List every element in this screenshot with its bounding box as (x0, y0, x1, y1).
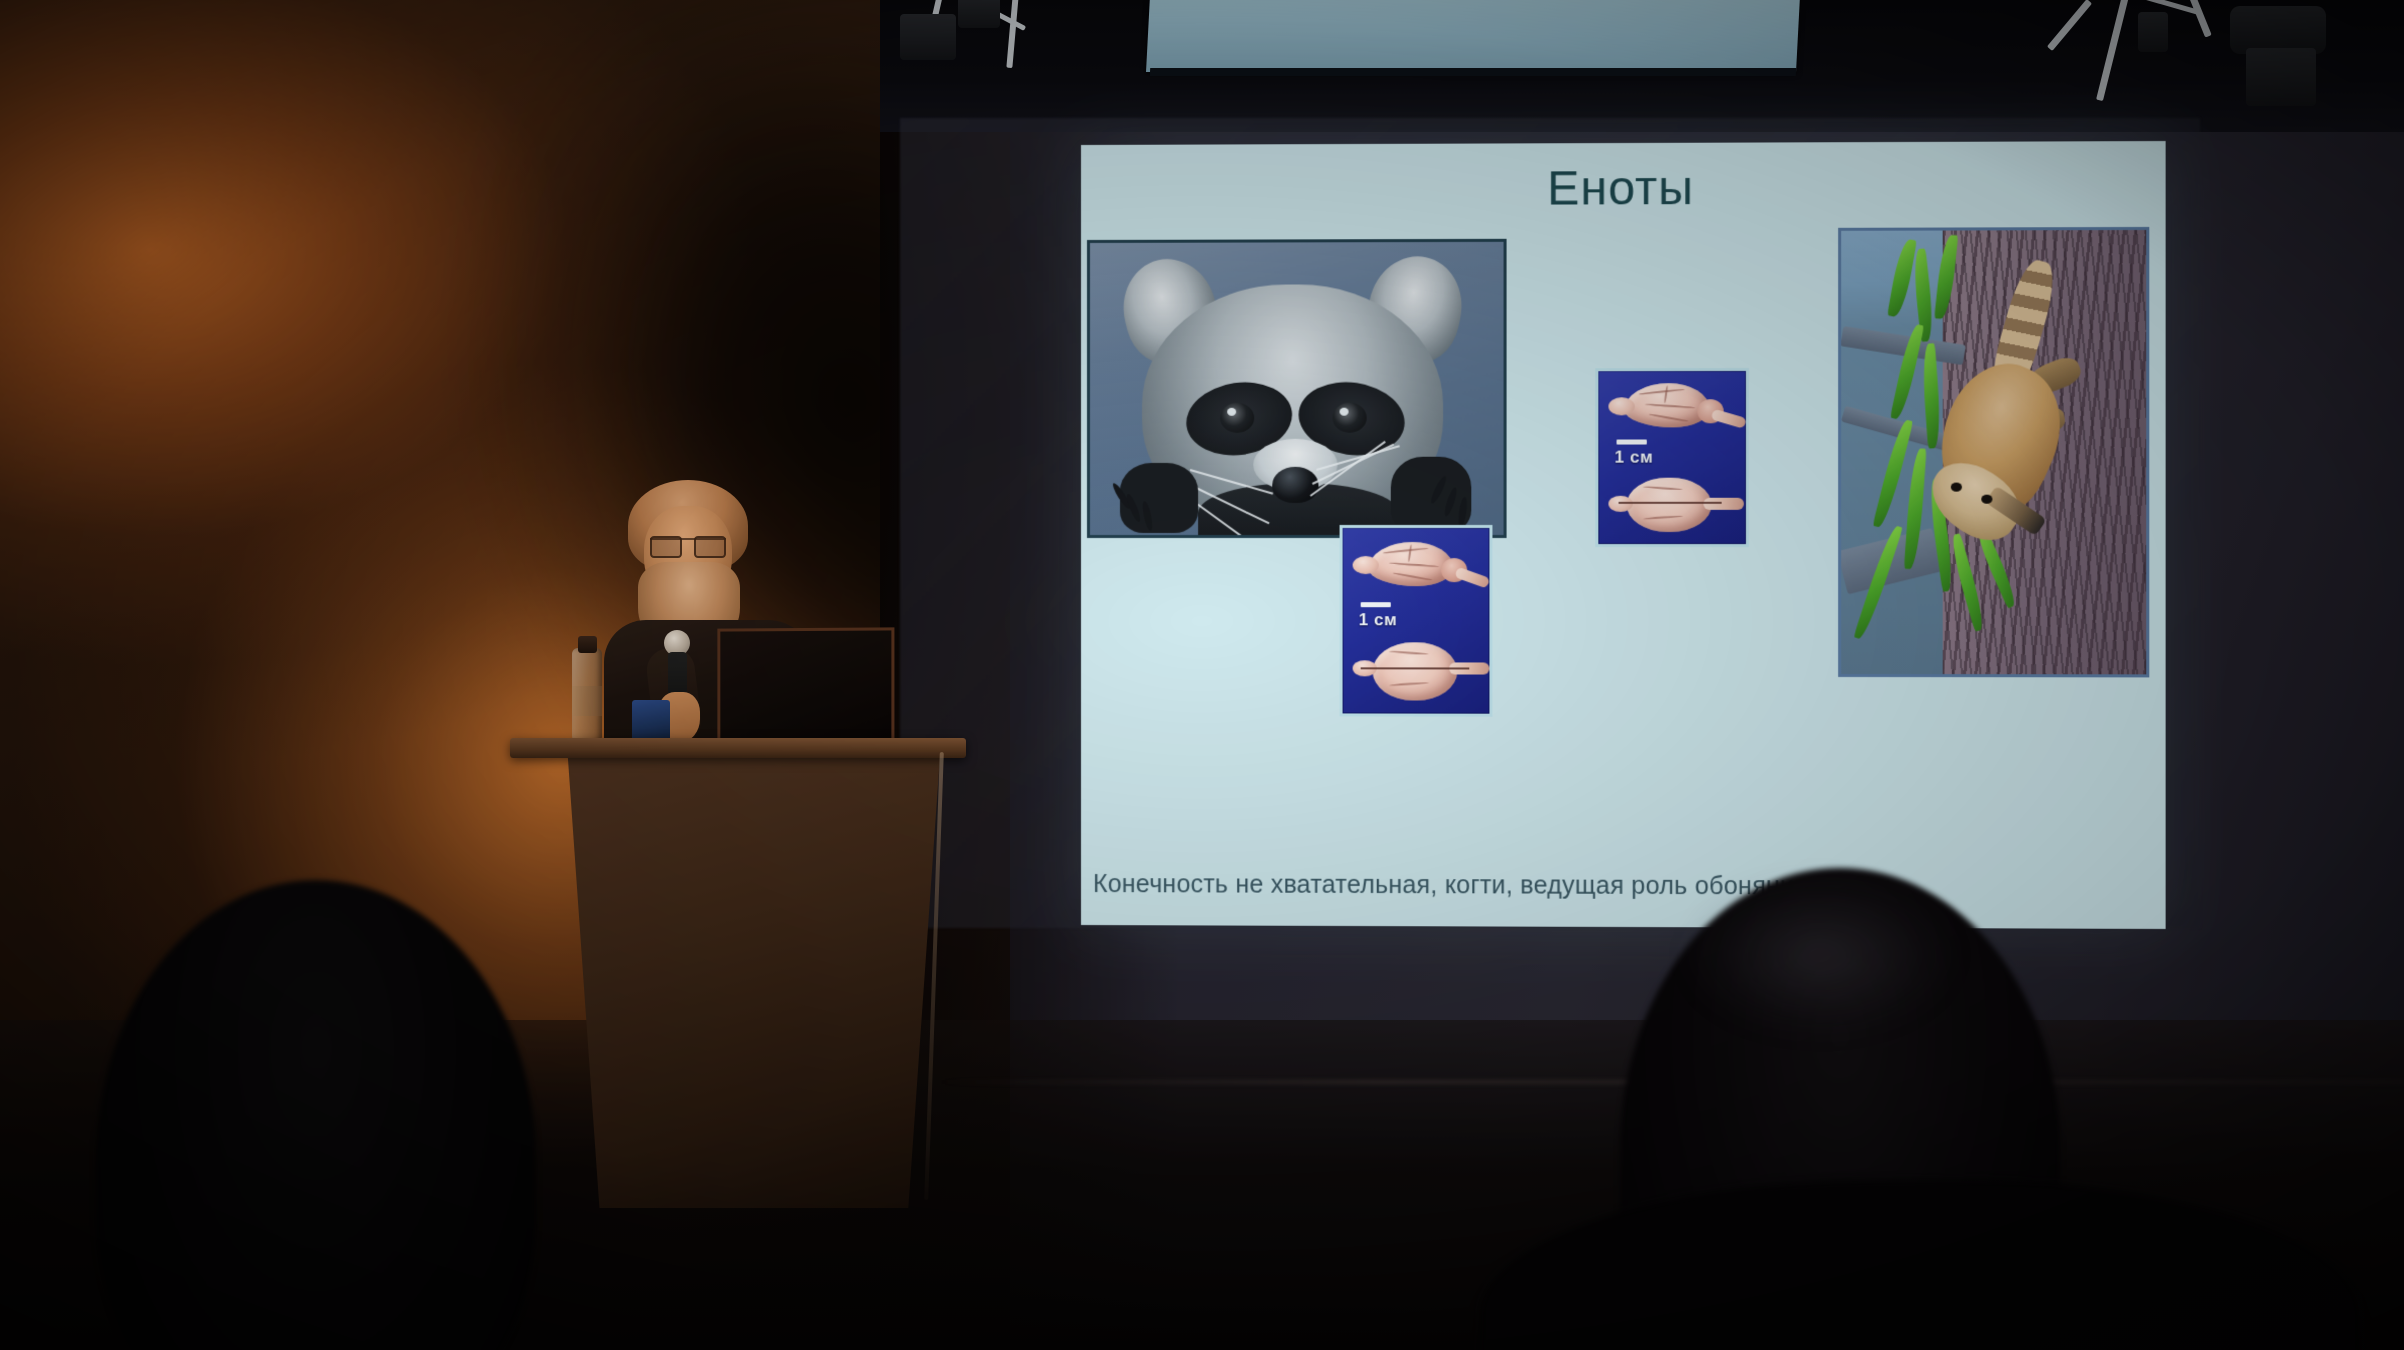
eyeglasses-bridge (650, 538, 726, 556)
projected-slide: Еноты (1081, 141, 2166, 929)
acoustic-panel (1146, 0, 1800, 72)
coati-on-tree-photo (1838, 227, 2149, 677)
brain-panel-upper: 1 см (1595, 368, 1749, 547)
spotlight-fixture (2246, 48, 2316, 106)
foliage (1887, 238, 1917, 318)
podium-body (544, 756, 940, 1208)
raccoon-nose (1272, 467, 1318, 503)
laptop-screen (717, 627, 894, 747)
olfactory-bulb (1353, 556, 1379, 574)
spotlight-fixture (958, 0, 1000, 28)
scale-label: 1 см (1615, 448, 1654, 468)
spotlight-fixture (2138, 12, 2168, 52)
spotlight-fixture (2230, 6, 2326, 54)
olfactory-bulb (1608, 397, 1634, 415)
brain-midline (1619, 502, 1722, 504)
slide-title: Еноты (1081, 159, 2166, 218)
brain-dorsal-view (1627, 478, 1712, 532)
bottle-cap (578, 636, 597, 653)
raccoon-face-photo (1087, 239, 1507, 538)
podium (510, 738, 966, 1208)
brain-stem (1711, 409, 1747, 429)
scale-bar (1617, 439, 1647, 444)
podium-top-surface (510, 738, 966, 758)
coati-eye (1951, 483, 1962, 492)
brain-stem (1454, 567, 1490, 589)
lecture-hall-photo: Еноты (0, 0, 2404, 1350)
scale-bar (1361, 602, 1391, 607)
brain-dorsal-view (1373, 642, 1458, 700)
spotlight-fixture (900, 14, 956, 60)
raccoon-eye-right (1333, 403, 1367, 433)
bottle-label (572, 686, 602, 716)
brain-midline (1361, 667, 1470, 669)
brain-panel-lower: 1 см (1340, 525, 1493, 717)
silhouette-head-right-highlight (1690, 880, 1950, 1030)
coati-eye (1981, 495, 1992, 504)
acoustic-panel-edge (1150, 68, 1796, 76)
raccoon-eye-left (1220, 403, 1254, 433)
scale-label: 1 см (1359, 610, 1397, 630)
slide-caption: Конечность не хватательная, когти, ведущ… (1093, 870, 2143, 903)
